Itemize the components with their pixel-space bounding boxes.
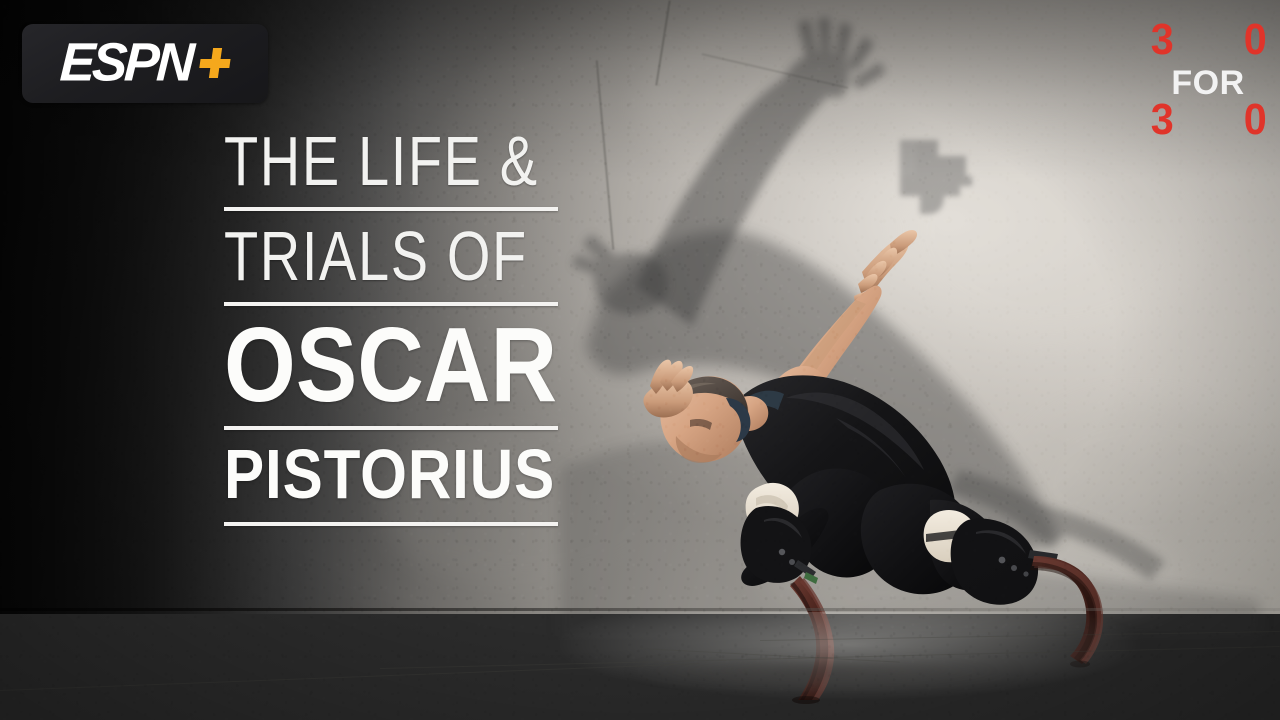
logo-digit-top-left: 3 bbox=[1151, 22, 1173, 58]
thirty-for-thirty-logo[interactable]: 3 0 FOR 3 0 bbox=[1150, 22, 1266, 140]
logo-digit-top-right: 0 bbox=[1243, 22, 1265, 58]
title-divider-4 bbox=[224, 522, 558, 526]
logo-digit-bottom-right: 0 bbox=[1243, 102, 1265, 138]
title-line-4: PISTORIUS bbox=[224, 442, 513, 508]
espn-plus-icon bbox=[198, 48, 232, 78]
logo-digit-bottom-left: 3 bbox=[1151, 102, 1173, 138]
key-art-poster: THE LIFE & TRIALS OF OSCAR PISTORIUS ESP… bbox=[0, 0, 1280, 720]
title-line-2: TRIALS OF bbox=[224, 223, 560, 290]
title-line-1: THE LIFE & bbox=[224, 128, 560, 195]
espn-plus-logo[interactable]: ESPN bbox=[22, 24, 268, 103]
title-lockup: THE LIFE & TRIALS OF OSCAR PISTORIUS bbox=[224, 128, 560, 526]
espn-wordmark: ESPN bbox=[58, 35, 192, 89]
logo-word-for: FOR bbox=[1171, 66, 1244, 100]
title-line-3: OSCAR bbox=[224, 316, 516, 416]
